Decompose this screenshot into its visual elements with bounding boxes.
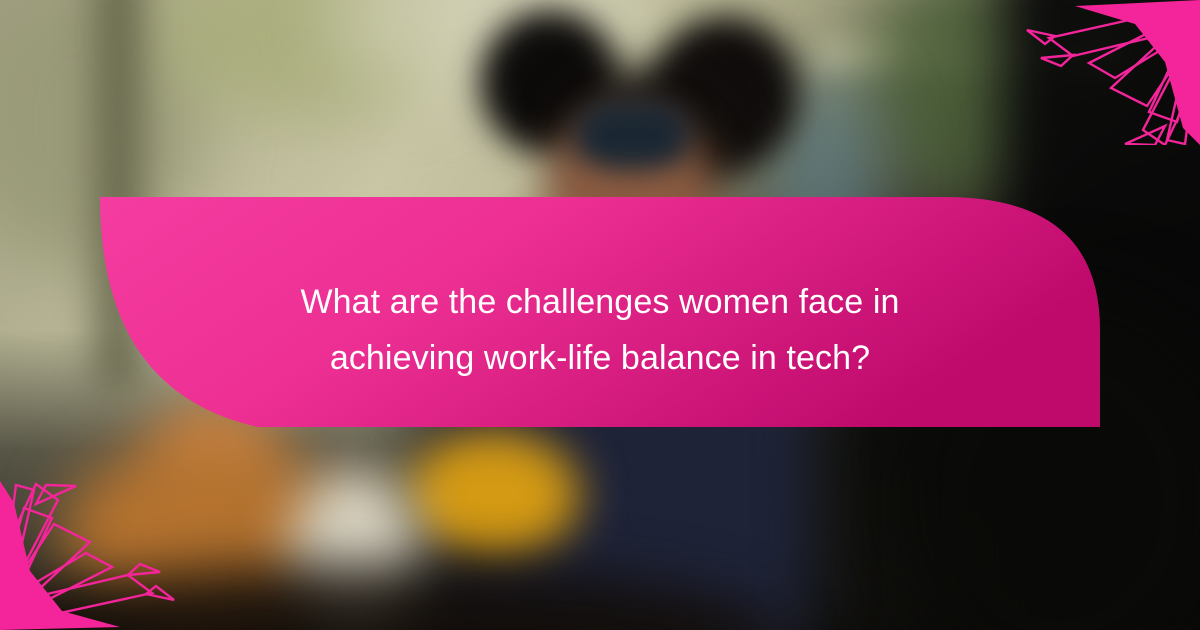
corner-flourish-top-right-icon	[1015, 0, 1200, 145]
corner-flourish-bottom-left-icon	[0, 475, 185, 630]
quote-card: What are the challenges women face in ac…	[0, 0, 1200, 630]
quote-text: What are the challenges women face in ac…	[220, 274, 980, 386]
